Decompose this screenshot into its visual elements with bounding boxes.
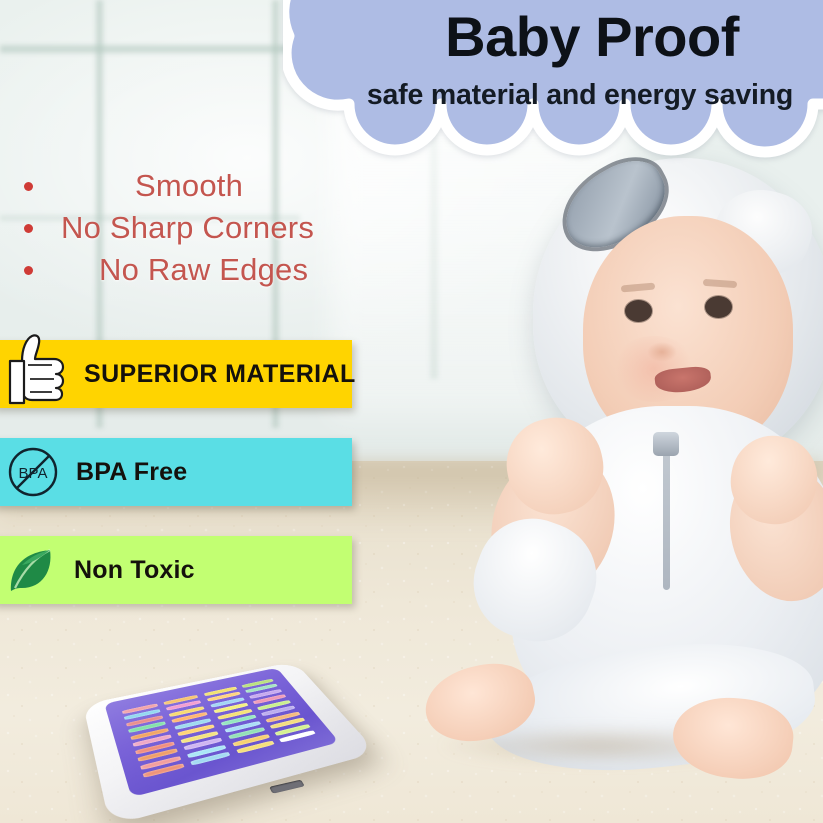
cloud-shape-icon <box>283 0 823 216</box>
baby-nose <box>647 342 677 362</box>
baby-eye <box>625 300 652 322</box>
badge-bpa-free: BPA BPA Free <box>0 438 352 506</box>
baby-eye <box>705 296 732 318</box>
bpa-free-icon: BPA <box>6 445 60 499</box>
bullet-dot-icon <box>24 224 33 233</box>
thumbs-up-icon <box>6 331 68 407</box>
bullet-dot-icon <box>24 266 33 275</box>
baby-subject <box>415 150 823 810</box>
list-item: Smooth <box>0 168 330 204</box>
leaf-icon <box>6 545 58 595</box>
bpa-icon-text: BPA <box>19 465 48 482</box>
feature-bullet-list: Smooth No Sharp Corners No Raw Edges <box>0 168 330 288</box>
badge-non-toxic: Non Toxic <box>0 536 352 604</box>
onesie-zipper <box>663 440 670 590</box>
bullet-label: No Sharp Corners <box>61 210 314 246</box>
badge-label: SUPERIOR MATERIAL <box>84 360 356 389</box>
badge-label: BPA Free <box>76 458 187 487</box>
list-item: No Sharp Corners <box>0 210 330 246</box>
product-marketing-image: Baby Proof safe material and energy savi… <box>0 0 823 823</box>
phone-charging-port <box>269 779 305 793</box>
bullet-label: Smooth <box>135 168 243 204</box>
product-toy-phone <box>96 642 346 812</box>
bullet-dot-icon <box>24 182 33 191</box>
badge-label: Non Toxic <box>74 556 195 585</box>
bullet-label: No Raw Edges <box>99 252 308 288</box>
onesie-zipper-pull <box>653 432 679 456</box>
list-item: No Raw Edges <box>0 252 330 288</box>
badge-superior-material: SUPERIOR MATERIAL <box>0 340 352 408</box>
cloud-banner: Baby Proof safe material and energy savi… <box>283 0 823 216</box>
